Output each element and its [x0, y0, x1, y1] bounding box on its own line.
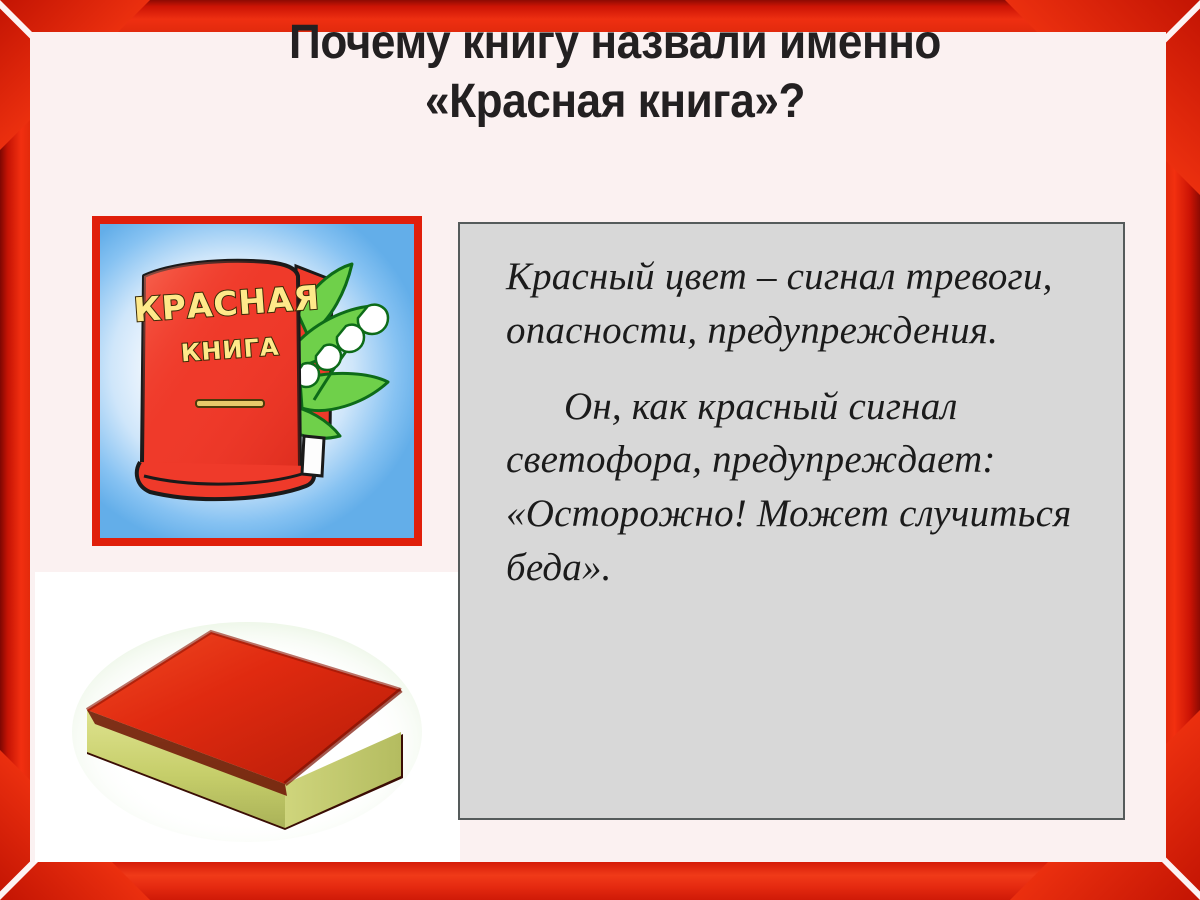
red-book-clipart-icon [100, 224, 414, 538]
page-title: Почему книгу назвали именно «Красная кни… [150, 14, 1079, 131]
paragraph-2: Он, как красный сигнал светофора, предуп… [506, 380, 1089, 595]
paragraph-1: Красный цвет – сигнал тревоги, опасности… [506, 250, 1089, 358]
slide: Почему книгу назвали именно «Красная кни… [0, 0, 1200, 900]
clipart-red-book-illustration: КРАСНАЯ КНИГА [92, 216, 422, 546]
clipart-canvas: КРАСНАЯ КНИГА [100, 224, 414, 538]
hardcover-book-icon [35, 572, 460, 862]
content-text-panel: Красный цвет – сигнал тревоги, опасности… [458, 222, 1125, 820]
photo-red-hardcover-book [35, 572, 460, 862]
